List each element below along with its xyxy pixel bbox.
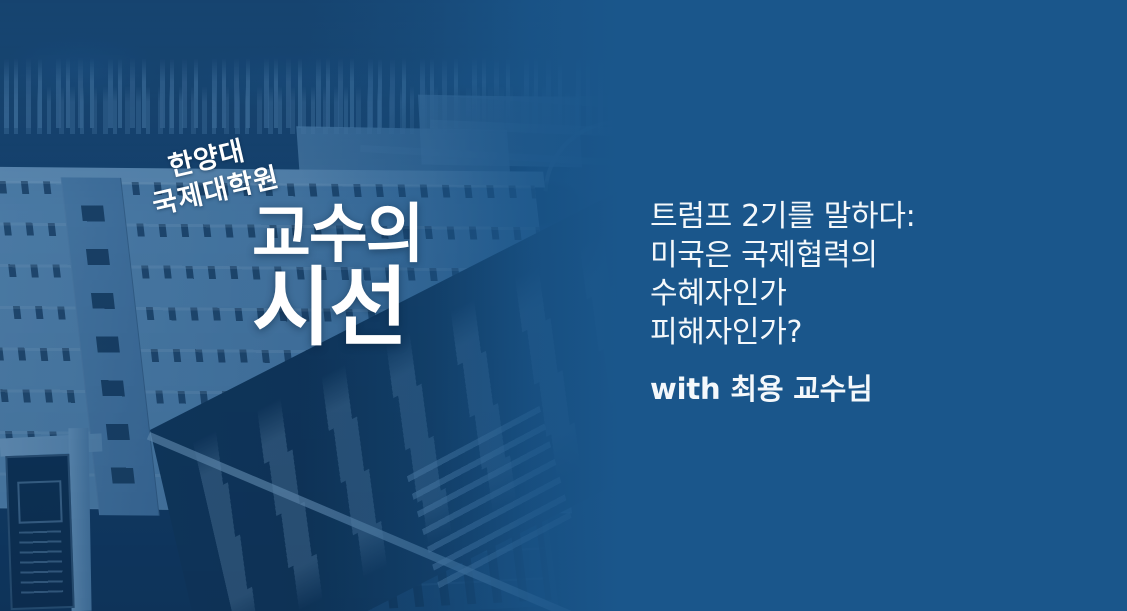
episode-title-line-3: 수혜자인가: [650, 275, 1070, 314]
logo-title-line1: 교수의: [252, 206, 423, 265]
program-logo: 한양대 국제대학원 교수의 시선: [148, 140, 478, 390]
logo-title: 교수의 시선: [252, 206, 423, 348]
logo-title-line2: 시선: [252, 269, 423, 348]
episode-title-line-2: 미국은 국제협력의: [650, 237, 1070, 276]
presentation-slide: 한양대 국제대학원 교수의 시선 트럼프 2기를 말하다: 미국은 국제협력의 …: [0, 0, 1127, 611]
episode-title-line-4: 피해자인가?: [650, 314, 1070, 353]
presenter-credit: with 최용 교수님: [650, 366, 873, 408]
episode-title: 트럼프 2기를 말하다: 미국은 국제협력의 수혜자인가 피해자인가?: [650, 198, 1070, 353]
episode-title-line-1: 트럼프 2기를 말하다:: [650, 198, 1070, 237]
